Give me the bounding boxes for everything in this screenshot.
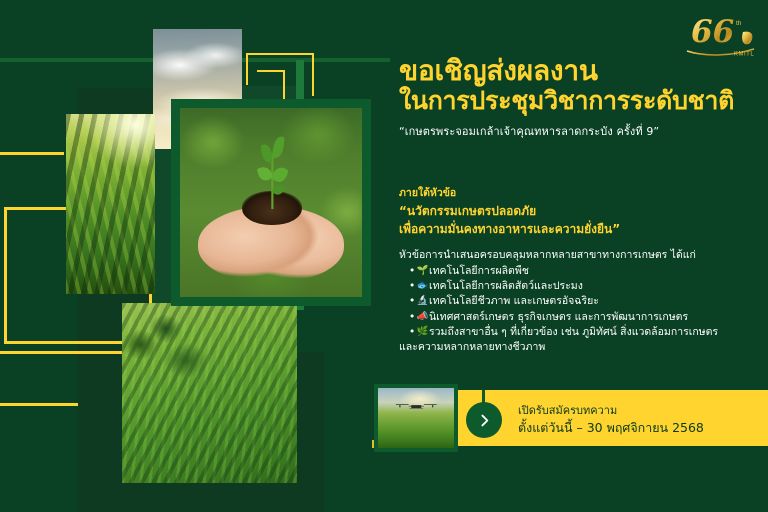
drone-graphic	[395, 398, 438, 409]
cta-text-block: เปิดรับสมัครบทความ ตั้งแต่วันนี้ – 30 พฤ…	[518, 402, 704, 438]
topic-item-biotech-smart-farm: • 🔬 เทคโนโลยีชีวภาพ และเกษตรอัจฉริยะ	[399, 294, 765, 309]
bullet-dot: •	[409, 279, 416, 294]
cta-line-1: เปิดรับสมัครบทความ	[518, 402, 704, 419]
theme-label: ภายใต้หัวข้อ	[399, 186, 759, 202]
theme-line-2: เพื่อความมั่นคงทางอาหารและความยั่งยืน”	[399, 220, 759, 238]
theme-line-1: “นวัตกรรมเกษตรปลอดภัย	[399, 202, 759, 220]
cta-line-2: ตั้งแต่วันนี้ – 30 พฤศจิกายน 2568	[518, 419, 704, 438]
poster-title-line1: ขอเชิญส่งผลงาน	[399, 55, 759, 86]
cta-banner[interactable]: เปิดรับสมัครบทความ ตั้งแต่วันนี้ – 30 พฤ…	[394, 390, 768, 452]
tea-terrace-trees	[122, 303, 206, 402]
hands-holding-seedling-photo	[180, 108, 362, 297]
hero-photo-sprout	[256, 131, 289, 210]
logo-number: 66	[691, 14, 734, 50]
poster-title-quote: “เกษตรพระจอมเกล้าเจ้าคุณทหารลาดกระบัง คร…	[399, 122, 759, 140]
topic-item-agri-communication: • 📣 นิเทศศาสตร์เกษตร ธุรกิจเกษตร และการพ…	[399, 310, 765, 325]
poster-title-line2: ในการประชุมวิชาการระดับชาติ	[399, 86, 759, 116]
poster-root: 66 th KMITL ขอเชิญส่งผลงาน ในการประชุมวิ…	[0, 0, 768, 512]
logo-suffix: th	[736, 20, 742, 27]
topic-label: รวมถึงสาขาอื่น ๆ ที่เกี่ยวข้อง เช่น ภูมิ…	[429, 325, 765, 340]
agriculture-drone-photo	[378, 388, 454, 448]
megaphone-icon: 📣	[416, 310, 429, 324]
logo-graphic: 66 th KMITL	[684, 8, 758, 58]
topic-label: นิเทศศาสตร์เกษตร ธุรกิจเกษตร และการพัฒนา…	[429, 310, 765, 325]
tea-terrace-field-photo	[122, 303, 297, 483]
cta-thumbnail-frame	[374, 384, 458, 452]
decor-yellow-line-upper-3	[0, 152, 64, 155]
bullet-dot: •	[409, 264, 416, 279]
seedling-icon: 🌱	[416, 264, 429, 278]
microscope-icon: 🔬	[416, 294, 429, 308]
sprout-icon	[256, 131, 289, 210]
logo-leaf-icon	[742, 32, 752, 45]
decor-yellow-bracket-top	[246, 53, 314, 55]
herb-icon: 🌿	[416, 325, 429, 339]
chevron-right-icon	[476, 412, 493, 429]
theme-block: ภายใต้หัวข้อ “นวัตกรรมเกษตรปลอดภัย เพื่อ…	[399, 186, 759, 238]
bullet-dot: •	[409, 310, 416, 325]
decor-yellow-bracket-inner-top	[257, 70, 285, 72]
topic-item-crop-production: • 🌱 เทคโนโลยีการผลิตพืช	[399, 264, 765, 279]
topic-label: เทคโนโลยีชีวภาพ และเกษตรอัจฉริยะ	[429, 294, 765, 309]
topic-item-animal-fishery: • 🐟 เทคโนโลยีการผลิตสัตว์และประมง	[399, 279, 765, 294]
content-column: 66 th KMITL ขอเชิญส่งผลงาน ในการประชุมวิ…	[394, 0, 768, 512]
kmitl-66th-logo: 66 th KMITL	[684, 8, 758, 58]
fish-icon: 🐟	[416, 279, 429, 293]
decor-yellow-bracket-right	[312, 53, 314, 96]
topic-label: เทคโนโลยีการผลิตสัตว์และประมง	[429, 279, 765, 294]
topics-block: หัวข้อการนำเสนอครอบคลุมหลากหลายสาขาทางกา…	[399, 248, 765, 355]
bullet-dot: •	[409, 294, 416, 309]
title-block: ขอเชิญส่งผลงาน ในการประชุมวิชาการระดับชา…	[399, 55, 759, 140]
cta-arrow-button[interactable]	[466, 402, 502, 438]
topics-tail: และความหลากหลายทางชีวภาพ	[399, 340, 765, 355]
drone-icon	[395, 402, 438, 413]
topic-label: เทคโนโลยีการผลิตพืช	[429, 264, 765, 279]
sunlit-crop-field-photo	[66, 114, 155, 294]
bullet-dot: •	[409, 325, 416, 340]
topics-intro: หัวข้อการนำเสนอครอบคลุมหลากหลายสาขาทางกา…	[399, 248, 765, 263]
decor-yellow-bracket-left	[246, 53, 248, 85]
hero-photo-frame	[171, 99, 371, 306]
decor-yellow-line-lower	[0, 403, 78, 406]
topic-item-other-fields: • 🌿 รวมถึงสาขาอื่น ๆ ที่เกี่ยวข้อง เช่น …	[399, 325, 765, 340]
